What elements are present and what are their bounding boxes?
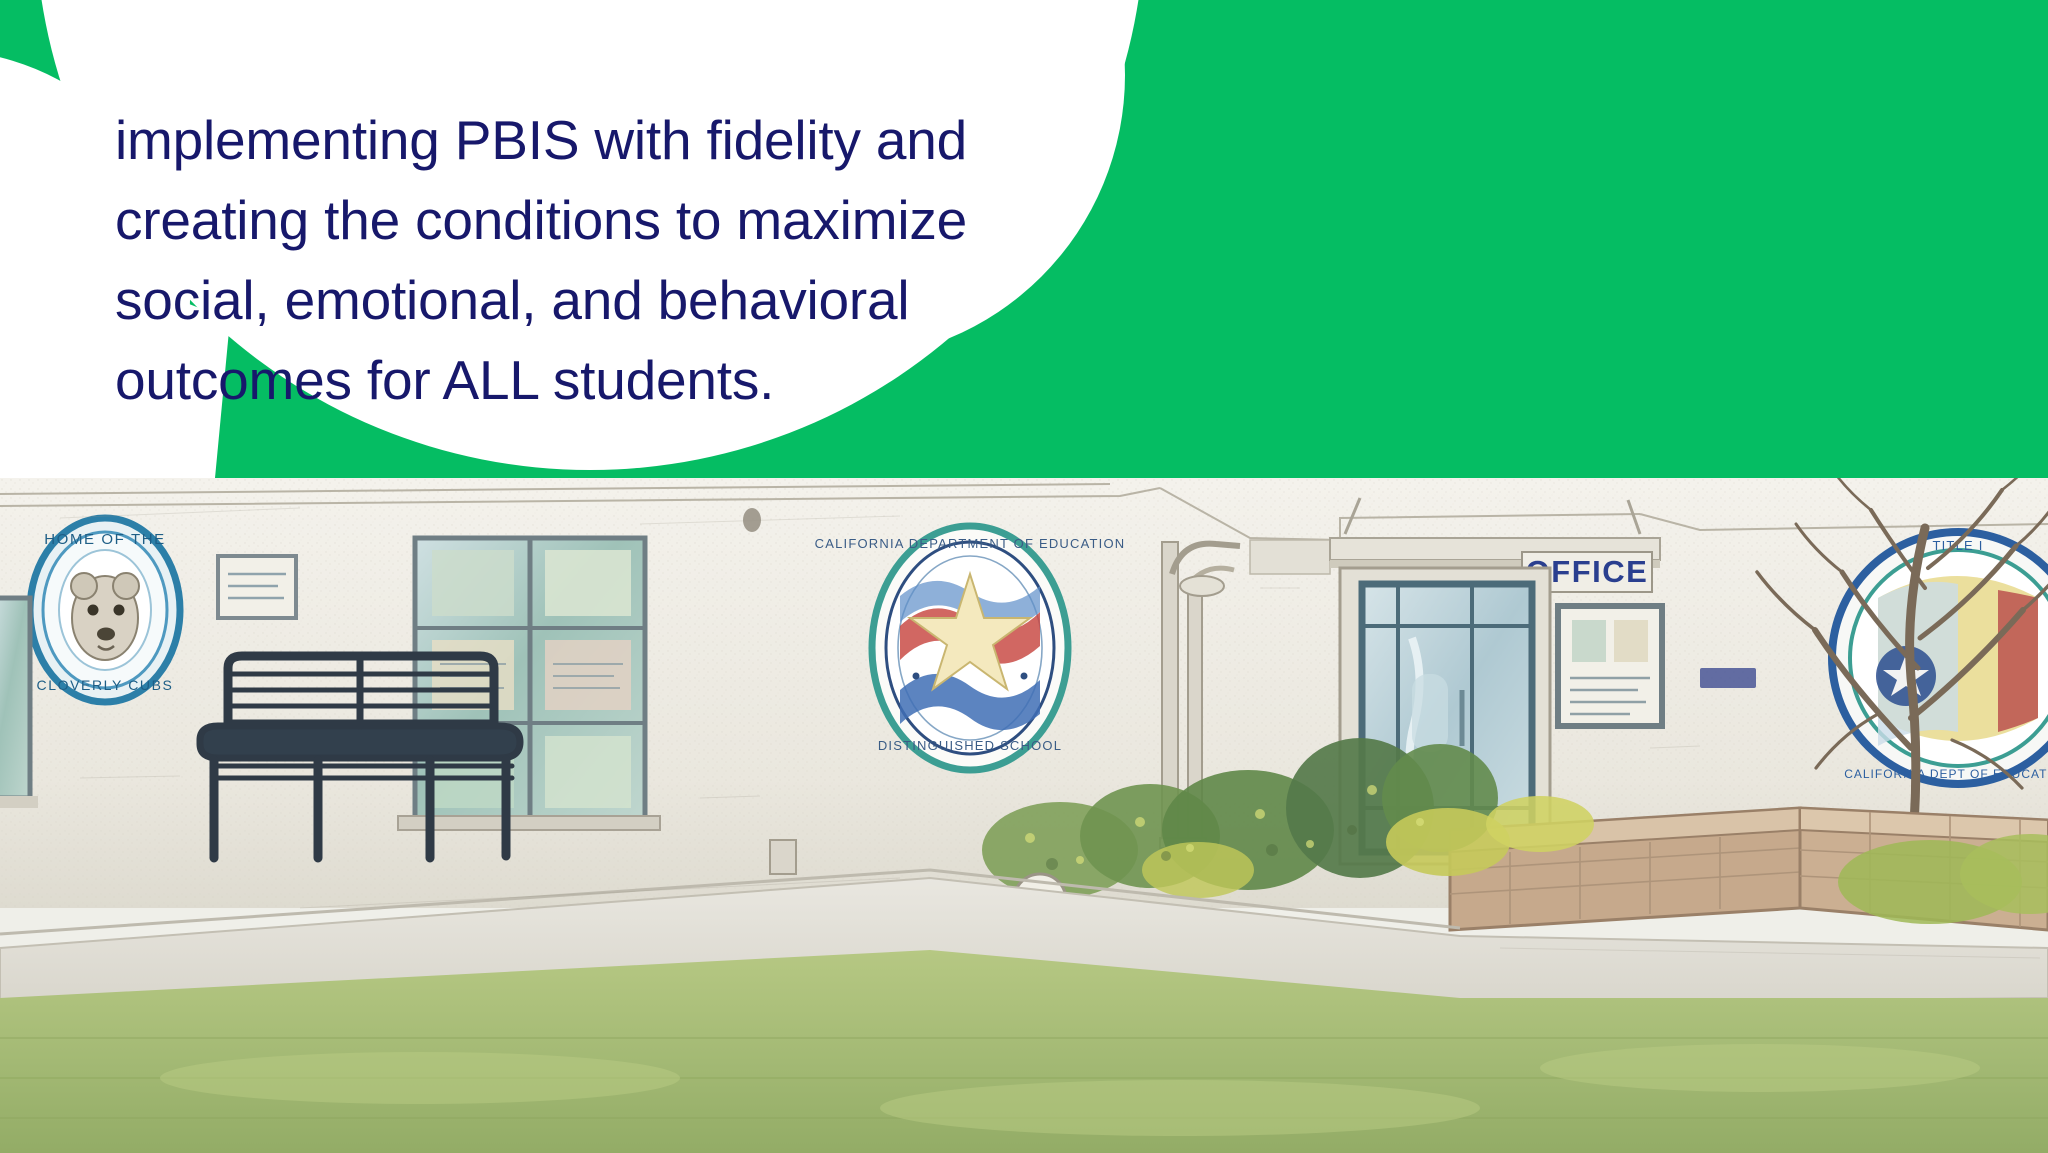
utility-box xyxy=(770,840,796,874)
green-decorative-band xyxy=(0,0,2048,478)
green-band-svg xyxy=(0,0,2048,478)
svg-text:CLOVERLY CUBS: CLOVERLY CUBS xyxy=(37,677,174,693)
svg-text:CALIFORNIA DEPT OF EDUCATION: CALIFORNIA DEPT OF EDUCATION xyxy=(1844,767,2048,781)
svg-text:HOME OF THE: HOME OF THE xyxy=(44,531,166,548)
svg-text:CALIFORNIA DEPARTMENT OF EDUCA: CALIFORNIA DEPARTMENT OF EDUCATION xyxy=(815,536,1126,551)
wall-plaque xyxy=(1700,668,1756,688)
school-building-photo: HOME OF THE CLOVERLY CUBS xyxy=(0,478,2048,1153)
green-fill-rect xyxy=(0,0,2048,478)
roof-vent xyxy=(1250,540,1330,574)
svg-text:DISTINGUISHED SCHOOL: DISTINGUISHED SCHOOL xyxy=(878,738,1062,753)
school-mascot-seal: HOME OF THE CLOVERLY CUBS xyxy=(30,518,180,702)
award-seal-right: TITLE I CALIFORNIA DEPT OF EDUCATION xyxy=(1832,532,2048,784)
wall-notice-left xyxy=(218,556,296,618)
window-sliver-left xyxy=(0,598,38,808)
bulletin-board xyxy=(1558,606,1662,726)
photo-illustration: HOME OF THE CLOVERLY CUBS xyxy=(0,478,2048,1153)
window-bank xyxy=(398,538,660,830)
